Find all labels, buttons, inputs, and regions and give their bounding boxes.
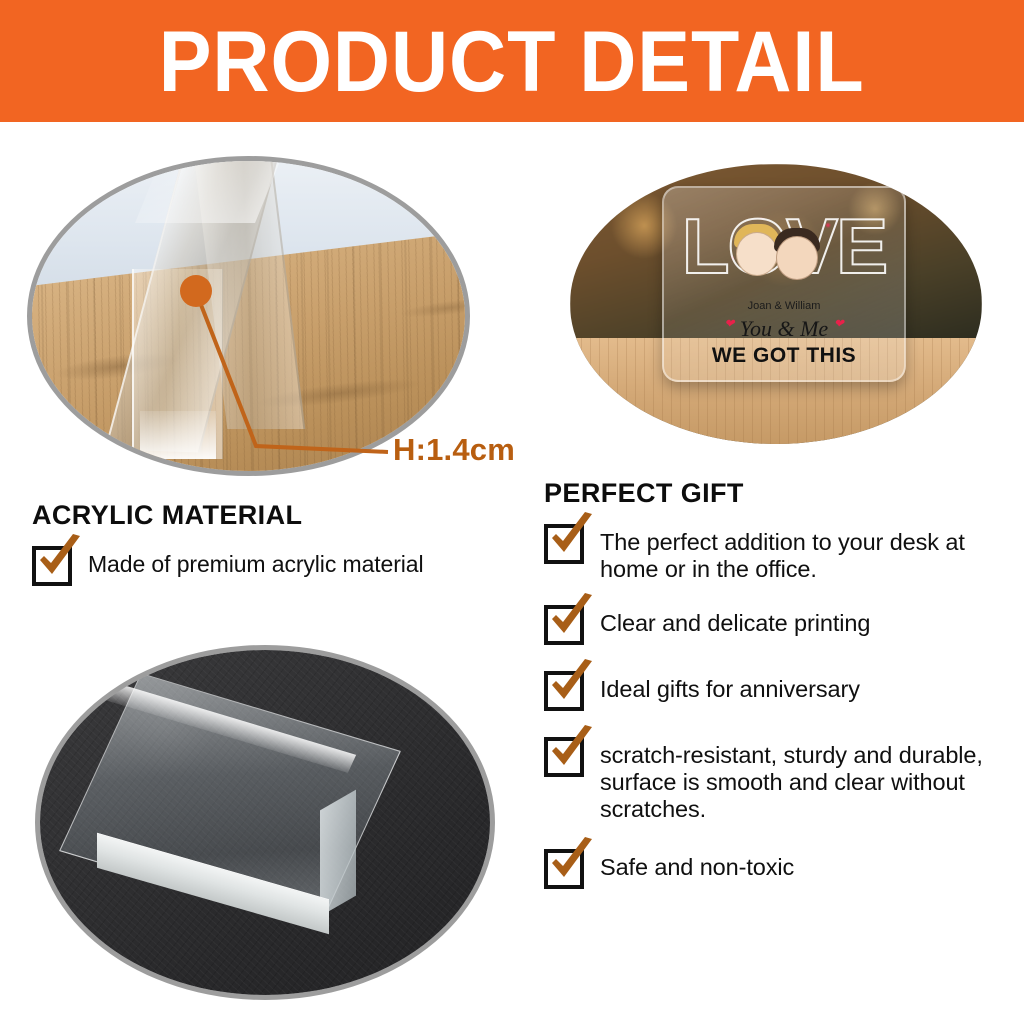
character-b-face xyxy=(776,236,818,280)
plaque-couple-names: Joan & William xyxy=(664,300,904,312)
plaque-script-text: You & Me xyxy=(740,316,828,341)
acrylic-love-plaque: LOVE Joan & William ❤ You & Me ❤ WE GOT … xyxy=(662,186,906,382)
checkbox-checked-icon xyxy=(544,605,584,645)
checkbox-checked-icon xyxy=(544,737,584,777)
plaque-script-line: ❤ You & Me ❤ xyxy=(664,316,904,342)
checkbox-checked-icon xyxy=(544,671,584,711)
heart-icon: ❤ xyxy=(724,317,734,331)
checkmark-icon xyxy=(545,512,599,566)
list-item-label: scratch-resistant, sturdy and durable, s… xyxy=(600,737,1004,823)
acrylic-edge-on-wood-photo xyxy=(27,156,470,476)
feature-list-perfect-gift: The perfect addition to your desk at hom… xyxy=(544,524,1004,903)
character-a-face xyxy=(736,232,778,276)
acrylic-block-on-slate-photo xyxy=(35,645,495,1000)
product-detail-infographic: PRODUCT DETAIL LOVE Joan & William ❤ You… xyxy=(0,0,1024,1024)
plaque-slogan: WE GOT THIS xyxy=(664,344,904,368)
section-heading-acrylic-material: ACRYLIC MATERIAL xyxy=(32,500,302,531)
list-item-label: Clear and delicate printing xyxy=(600,605,870,637)
checkmark-icon xyxy=(545,837,599,891)
list-item: Made of premium acrylic material xyxy=(32,546,512,586)
checkmark-icon xyxy=(545,725,599,779)
list-item: Safe and non-toxic xyxy=(544,849,1004,889)
dimension-label: H:1.4cm xyxy=(393,432,515,468)
list-item: Ideal gifts for anniversary xyxy=(544,671,1004,711)
checkmark-icon xyxy=(545,593,599,647)
list-item-label: Safe and non-toxic xyxy=(600,849,794,881)
checkmark-icon xyxy=(545,659,599,713)
love-plaque-on-desk-photo: LOVE Joan & William ❤ You & Me ❤ WE GOT … xyxy=(570,164,982,444)
list-item-label: Made of premium acrylic material xyxy=(88,546,424,578)
list-item-label: The perfect addition to your desk at hom… xyxy=(600,524,1004,583)
heart-icon: ❤ xyxy=(834,317,844,331)
page-title: PRODUCT DETAIL xyxy=(159,19,865,105)
checkmark-icon xyxy=(33,534,87,588)
checkbox-checked-icon xyxy=(544,524,584,564)
section-heading-perfect-gift: PERFECT GIFT xyxy=(544,478,744,509)
list-item: Clear and delicate printing xyxy=(544,605,1004,645)
list-item-label: Ideal gifts for anniversary xyxy=(600,671,860,703)
feature-list-acrylic-material: Made of premium acrylic material xyxy=(32,546,512,600)
header-banner: PRODUCT DETAIL xyxy=(0,0,1024,122)
checkbox-checked-icon xyxy=(32,546,72,586)
checkbox-checked-icon xyxy=(544,849,584,889)
acrylic-bottom-highlight xyxy=(140,411,216,459)
list-item: scratch-resistant, sturdy and durable, s… xyxy=(544,737,1004,823)
list-item: The perfect addition to your desk at hom… xyxy=(544,524,1004,583)
